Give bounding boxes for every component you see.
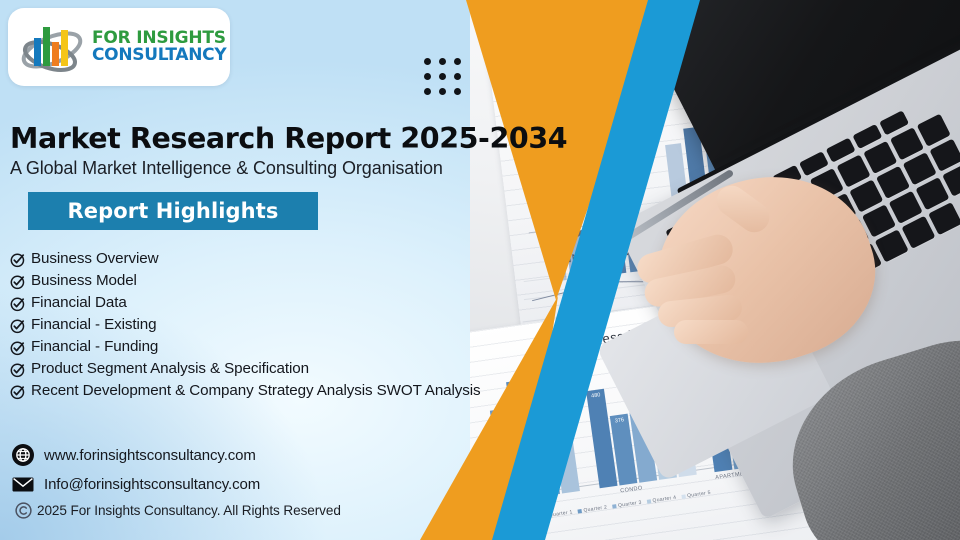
grid-dot: [424, 58, 431, 65]
contact-block: www.forinsightsconsultancy.com Info@fori…: [12, 444, 341, 519]
copyright-icon: [15, 502, 32, 519]
envelope-icon: [12, 473, 34, 495]
list-item: Financial Data: [10, 294, 510, 313]
email-text: Info@forinsightsconsultancy.com: [44, 476, 260, 493]
badge-label: Report Highlights: [68, 199, 279, 223]
check-circle-icon: [10, 362, 26, 378]
globe-icon: [12, 444, 34, 466]
list-item: Business Overview: [10, 250, 510, 269]
list-item-label: Business Model: [31, 272, 137, 291]
grid-dot: [439, 58, 446, 65]
list-item: Financial - Existing: [10, 316, 510, 335]
logo-wordmark: FOR INSIGHTS CONSULTANCY: [92, 30, 226, 65]
hand-with-pen: [618, 148, 918, 448]
page-subtitle: A Global Market Intelligence & Consultin…: [10, 158, 443, 179]
list-item-label: Financial Data: [31, 294, 127, 313]
report-highlights-badge: Report Highlights: [28, 192, 318, 230]
dot-grid-icon: [424, 58, 461, 95]
grid-dot: [454, 73, 461, 80]
check-circle-icon: [10, 252, 26, 268]
grid-dot: [454, 58, 461, 65]
logo-card[interactable]: FOR INSIGHTS CONSULTANCY: [8, 8, 230, 86]
list-item-label: Financial - Funding: [31, 338, 158, 357]
desk-photo: APARTMENT HOUSE ANNUAL SUMMARY Town home…: [470, 0, 960, 540]
list-item-label: Financial - Existing: [31, 316, 156, 335]
grid-dot: [439, 73, 446, 80]
check-circle-icon: [10, 274, 26, 290]
list-item: Product Segment Analysis & Specification: [10, 360, 510, 379]
logo-line-2: CONSULTANCY: [92, 47, 226, 64]
report-banner: APARTMENT HOUSE ANNUAL SUMMARY Town home…: [0, 0, 960, 540]
grid-dot: [439, 88, 446, 95]
grid-dot: [424, 88, 431, 95]
list-item: Business Model: [10, 272, 510, 291]
grid-dot: [454, 88, 461, 95]
website-text: www.forinsightsconsultancy.com: [44, 447, 256, 464]
bar-chart-globe-logo-icon: [16, 16, 88, 78]
list-item-label: Product Segment Analysis & Specification: [31, 360, 309, 379]
list-item-label: Recent Development & Company Strategy An…: [31, 382, 481, 401]
highlights-list: Business Overview Business Model Financi…: [10, 250, 510, 404]
website-row[interactable]: www.forinsightsconsultancy.com: [12, 444, 341, 466]
email-row[interactable]: Info@forinsightsconsultancy.com: [12, 473, 341, 495]
check-circle-icon: [10, 340, 26, 356]
check-circle-icon: [10, 384, 26, 400]
page-title: Market Research Report 2025-2034: [10, 122, 567, 155]
check-circle-icon: [10, 296, 26, 312]
copyright-text: 2025 For Insights Consultancy. All Right…: [37, 503, 341, 518]
copyright-row: 2025 For Insights Consultancy. All Right…: [15, 502, 341, 519]
list-item: Financial - Funding: [10, 338, 510, 357]
grid-dot: [424, 73, 431, 80]
list-item: Recent Development & Company Strategy An…: [10, 382, 510, 401]
check-circle-icon: [10, 318, 26, 334]
list-item-label: Business Overview: [31, 250, 158, 269]
